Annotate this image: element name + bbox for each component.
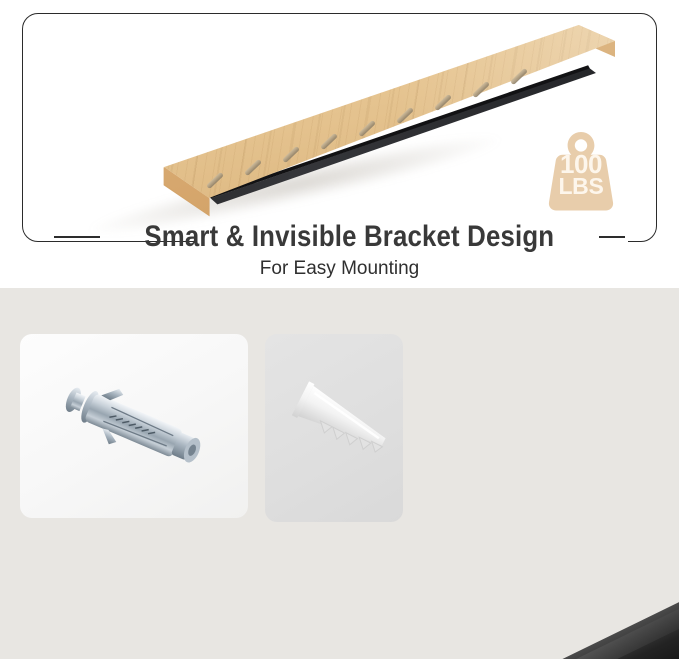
page-subtitle: For Easy Mounting — [0, 258, 679, 280]
wood-shelf-illustration — [55, 18, 615, 218]
bracket-slot — [434, 94, 452, 111]
metal-anchor-image — [45, 369, 230, 489]
bracket-slot — [244, 159, 262, 176]
page-title: Smart & Invisible Bracket Design — [145, 221, 555, 253]
bracket-slot — [206, 172, 224, 189]
title-row: Smart & Invisible Bracket Design — [0, 219, 679, 255]
plastic-anchor-panel — [265, 334, 403, 522]
bracket-slot — [320, 133, 338, 150]
top-section: 100 LBS Smart & Invisible Bracket Design… — [0, 0, 679, 288]
bottom-section: Upgrade Metal Anchors heavy-duty Made of… — [0, 288, 679, 659]
title-rule-left — [54, 236, 100, 238]
plastic-anchor-image — [285, 366, 405, 476]
bracket-slot — [282, 146, 300, 163]
shelf-hero-image — [55, 18, 615, 218]
bracket-slot — [358, 120, 376, 137]
bracket-slot — [396, 107, 414, 124]
bracket-slot-group — [55, 18, 615, 218]
title-rule-right — [599, 236, 625, 238]
weight-unit: LBS — [538, 175, 624, 197]
bracket-slot — [510, 68, 528, 85]
weight-capacity-badge: 100 LBS — [538, 128, 624, 214]
iron-pipe-image — [398, 576, 679, 659]
bracket-slot — [472, 81, 490, 98]
metal-anchor-panel — [20, 334, 248, 518]
infographic-page: 100 LBS Smart & Invisible Bracket Design… — [0, 0, 679, 659]
